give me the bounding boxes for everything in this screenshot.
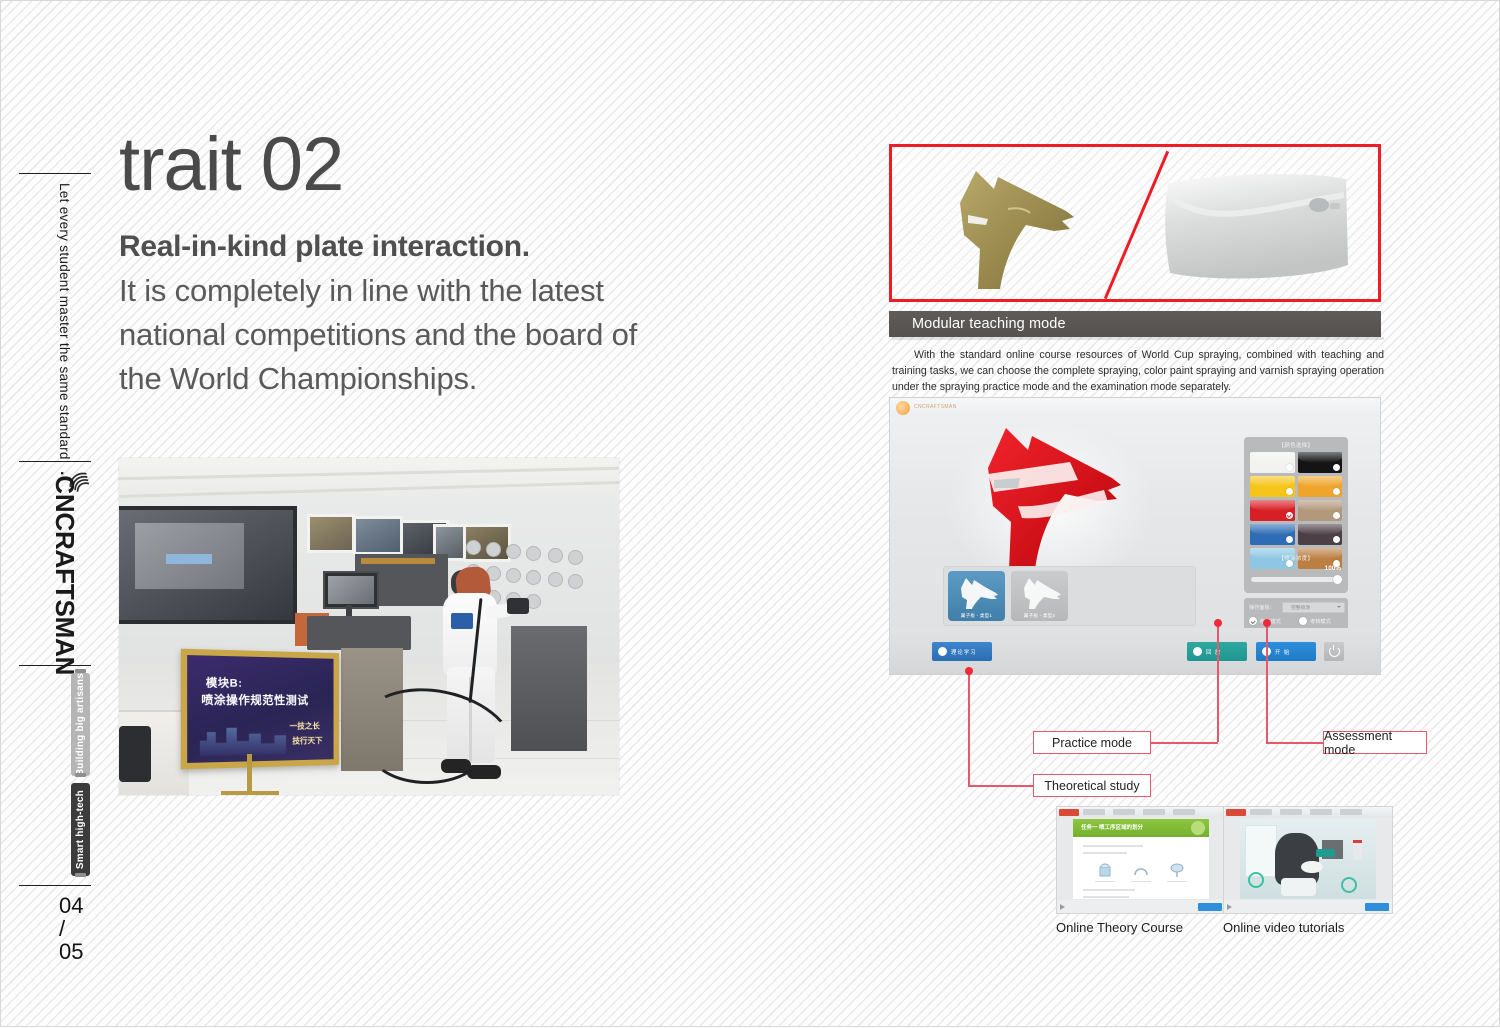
trait-title: trait 02 [119, 127, 343, 203]
replay-icon [1193, 647, 1202, 656]
model-thumbnail-tray: 翼子板 - 类型1 翼子板 - 类型2 [943, 566, 1196, 626]
hero-parts-frame [889, 144, 1381, 302]
page-total: 05 [59, 940, 83, 963]
car-fender-panel-icon [934, 163, 1084, 293]
callout-line-assessment-h [1266, 742, 1324, 744]
model-thumbnail-1[interactable]: 翼子板 - 类型1 [948, 571, 1005, 621]
color-swatch-tan[interactable] [1298, 500, 1343, 521]
callout-line-practice-v [1217, 623, 1219, 742]
sidebar-divider-4 [19, 885, 91, 886]
badge-cap-mid [75, 773, 86, 777]
training-room-photo: 模块B: 喷涂操作规范性测试 一技之长 技行天下 [119, 458, 619, 795]
poster-line-2: 喷涂操作规范性测试 [201, 692, 308, 709]
app-footer-toolbar: 理论学习 回 放 开 始 [890, 628, 1380, 674]
sidebar-brand-label: CNCRAFTSMAN [50, 475, 80, 675]
power-button[interactable] [1324, 642, 1344, 661]
page-root: Let every student master the same standa… [0, 0, 1500, 1027]
start-label: 开 始 [1275, 648, 1290, 656]
density-slider[interactable] [1251, 577, 1341, 582]
radio-icon [1299, 617, 1307, 625]
poster-line-1: 模块B: [206, 674, 243, 691]
sidebar-badge-hightech: Smart high-tech [71, 783, 90, 876]
callout-dot-theory [965, 667, 973, 675]
callout-theoretical-study-label: Theoretical study [1044, 779, 1139, 793]
model-thumbnail-2-label: 翼子板 - 类型2 [1011, 613, 1068, 619]
online-video-tutorials-label: Online video tutorials [1223, 920, 1344, 935]
body-paragraph: It is completely in line with the latest… [119, 269, 659, 401]
callout-line-assessment-v [1266, 623, 1268, 742]
color-panel-title: 【颜色选择】 [1244, 441, 1348, 449]
headline: Real-in-kind plate interaction. [119, 230, 530, 264]
online-theory-course-label: Online Theory Course [1056, 920, 1183, 935]
sidebar-badge-hightech-label: Smart high-tech [75, 790, 86, 869]
app-titlebar: CNCRAFTSMAN [890, 398, 1380, 417]
color-swatch-panel: 【颜色选择】 【喷涂浓度】 100% [1244, 437, 1348, 593]
theory-study-label: 理论学习 [951, 648, 977, 656]
play-icon-2[interactable] [1227, 904, 1232, 910]
callout-practice-mode: Practice mode [1033, 731, 1151, 754]
app-logo-label: CNCRAFTSMAN [914, 404, 957, 410]
callout-assessment-mode-label: Assessment mode [1324, 729, 1426, 757]
radio-exam-mode-label: 考核模式 [1310, 618, 1331, 625]
app-logo-icon [896, 401, 910, 415]
spray-training-app-screenshot: CNCRAFTSMAN 翼子板 - 类型1 翼子板 - 类型2 [889, 397, 1381, 675]
replay-label: 回 放 [1206, 648, 1221, 656]
callout-line-theory-v [968, 671, 970, 785]
modular-teaching-mode-bar: Modular teaching mode [889, 311, 1381, 337]
sidebar-divider-2 [19, 461, 91, 462]
color-swatch-black[interactable] [1298, 452, 1343, 473]
color-swatch-red[interactable] [1250, 500, 1295, 521]
description-paragraph: With the standard online course resource… [892, 347, 1384, 395]
callout-dot-assessment [1263, 619, 1271, 627]
operation-select[interactable]: 完整喷涂 [1282, 602, 1345, 613]
callout-theoretical-study: Theoretical study [1033, 774, 1151, 797]
callout-dot-practice [1214, 619, 1222, 627]
color-swatch-orange[interactable] [1298, 476, 1343, 497]
course-logo-icon [1059, 809, 1079, 816]
chevron-down-icon [1337, 606, 1341, 608]
sidebar-tagline: Let every student master the same standa… [57, 183, 72, 460]
color-swatch-dark-purple[interactable] [1298, 524, 1343, 545]
operation-select-value: 完整喷涂 [1291, 604, 1310, 611]
operation-options-panel: 操作面板： 完整喷涂 练习模式 考核模式 [1244, 598, 1348, 630]
car-door-panel-icon [1158, 169, 1353, 287]
color-swatch-yellow[interactable] [1250, 476, 1295, 497]
model-thumbnail-1-label: 翼子板 - 类型1 [948, 613, 1005, 619]
sidebar-badge-artisans-label: Building big artisans [75, 673, 86, 776]
video-controls-2[interactable] [1365, 903, 1389, 911]
model-thumbnail-2[interactable]: 翼子板 - 类型2 [1011, 571, 1068, 621]
page-separator: / [59, 917, 83, 940]
callout-assessment-mode: Assessment mode [1323, 731, 1427, 754]
online-video-tutorials-card[interactable] [1223, 806, 1393, 914]
theory-study-button[interactable]: 理论学习 [932, 642, 992, 661]
tutorial-logo-icon [1226, 809, 1246, 816]
badge-cap-bottom [75, 873, 86, 877]
sidebar-brand: .CNCRAFTSMAN [49, 471, 80, 675]
density-slider-knob[interactable] [1333, 575, 1342, 584]
photo-poster: 模块B: 喷涂操作规范性测试 一技之长 技行天下 [181, 649, 339, 770]
radio-exam-mode[interactable]: 考核模式 [1299, 617, 1331, 625]
play-icon[interactable] [1060, 904, 1065, 910]
color-swatch-blue[interactable] [1250, 524, 1295, 545]
poster-line-4: 技行天下 [292, 735, 322, 746]
operation-label: 操作面板： [1249, 604, 1275, 611]
fender-canvas-render [958, 422, 1133, 574]
tutorial-video-frame [1240, 819, 1376, 899]
power-icon [1329, 646, 1340, 657]
start-button[interactable]: 开 始 [1256, 642, 1316, 661]
online-theory-course-card[interactable]: 任务一 喷工序区域的划分 [1056, 806, 1226, 914]
poster-line-3: 一技之长 [290, 721, 320, 732]
callout-line-theory-h [968, 785, 1035, 787]
left-sidebar: Let every student master the same standa… [19, 1, 91, 1028]
page-current: 04 [59, 894, 83, 917]
book-icon [938, 647, 947, 656]
color-swatch-white[interactable] [1250, 452, 1295, 473]
color-swatch-grid [1250, 452, 1342, 569]
density-label: 【喷涂浓度】 [1244, 554, 1348, 562]
modular-teaching-mode-title: Modular teaching mode [912, 316, 1066, 332]
slide-decor-icon [1191, 821, 1205, 835]
sidebar-badge-artisans: Building big artisans [71, 673, 90, 776]
sidebar-divider-1 [19, 173, 91, 174]
page-number: 04 / 05 [59, 894, 83, 963]
photo-large-display [119, 506, 297, 624]
callout-line-practice-h [1151, 742, 1218, 744]
video-controls[interactable] [1198, 903, 1222, 911]
callout-practice-mode-label: Practice mode [1052, 736, 1132, 750]
course-slide-title: 任务一 喷工序区域的划分 [1081, 823, 1143, 831]
check-icon [1249, 617, 1257, 625]
